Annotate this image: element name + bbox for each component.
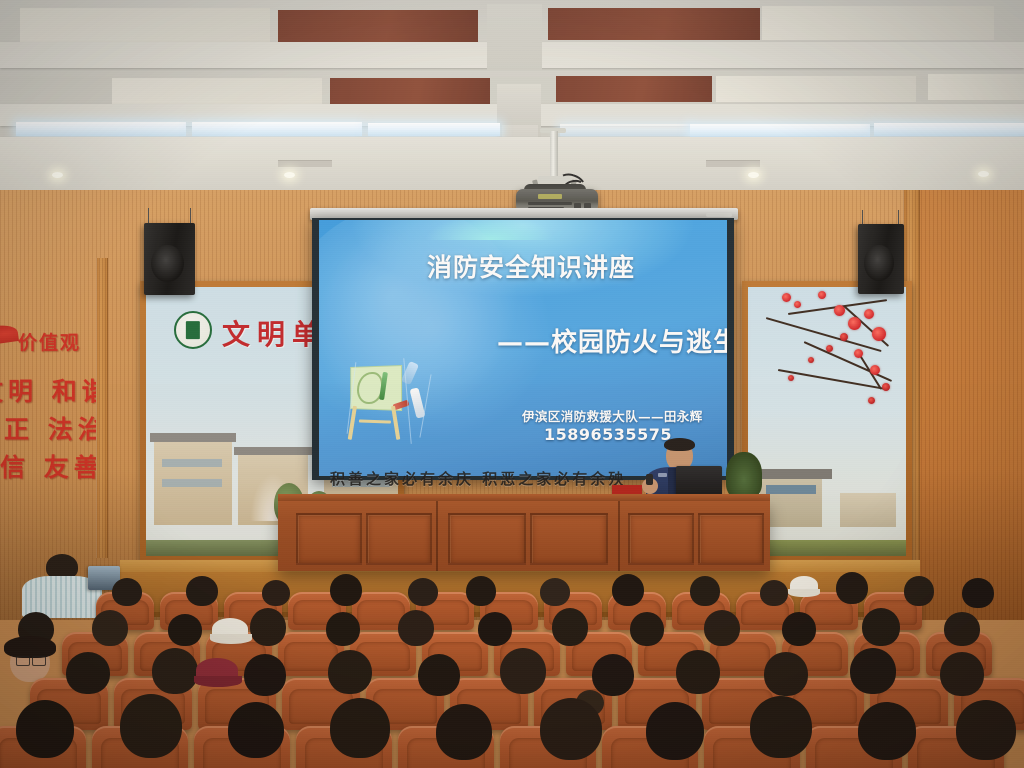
backdrop-window xyxy=(766,485,816,494)
audience-head xyxy=(962,578,994,608)
backdrop-pavilion-roof xyxy=(752,469,832,479)
ceiling-vent xyxy=(278,160,332,167)
ceiling-beam xyxy=(0,137,1024,196)
auditorium-photo: 价值观 文明 和谐 公正 法治 诚信 友善 文明单位 xyxy=(0,0,1024,768)
ceiling-downlight xyxy=(52,172,63,178)
wall-sign-line-3: 诚信 友善 xyxy=(0,448,96,484)
civilized-unit-emblem-icon xyxy=(174,311,212,349)
wall-sign-line-1: 文明 和谐 xyxy=(0,372,96,408)
slide-subtitle: ——校园防火与逃生 xyxy=(497,322,727,359)
projector-label xyxy=(538,194,562,199)
head-table-seam xyxy=(436,501,438,571)
plum-blossom xyxy=(864,309,874,319)
audience-head xyxy=(408,578,438,606)
plum-blossom xyxy=(788,375,794,381)
audience-hair xyxy=(4,636,56,658)
audience-head xyxy=(398,610,434,646)
audience-head xyxy=(92,610,128,646)
ceiling-strip-light xyxy=(368,123,500,136)
flag-flourish-icon xyxy=(0,323,19,347)
backdrop-building-roof xyxy=(234,447,312,455)
audience-glasses xyxy=(32,656,46,666)
audience-cap-brim xyxy=(210,634,252,644)
audience-head xyxy=(152,648,198,694)
ceiling-vent xyxy=(706,160,760,167)
plum-blossom xyxy=(848,317,861,330)
slide-presenter-line: 伊滨区消防救援大队——田永辉 xyxy=(522,406,703,425)
backdrop-window xyxy=(162,459,222,467)
audience-head xyxy=(328,650,372,694)
wall-sign-heading: 价值观 xyxy=(18,328,81,355)
audience-head xyxy=(760,580,788,606)
backdrop-building xyxy=(840,493,896,527)
audience-cap-brim xyxy=(788,589,820,597)
plum-blossom xyxy=(854,349,863,358)
audience-head xyxy=(540,698,602,760)
stage-banner-text: 积善之家必有余庆 积恶之家必有余殃 xyxy=(330,470,626,488)
audience-head xyxy=(764,652,808,696)
head-table-seam xyxy=(618,501,620,571)
audience-head xyxy=(956,700,1016,760)
projector-pole xyxy=(550,131,558,179)
ceiling xyxy=(0,0,1024,196)
wall-sign-left: 价值观 文明 和谐 公正 法治 诚信 友善 xyxy=(0,300,96,500)
head-table-panel xyxy=(296,513,362,565)
projection-screen[interactable]: 消防安全知识讲座 ——校园防火与逃生 伊滨区消防救援大队——田永辉 158965… xyxy=(319,220,727,476)
audience-head xyxy=(330,574,362,606)
wall-sign-line-2: 公正 法治 xyxy=(0,410,96,446)
backdrop-grass xyxy=(748,540,906,556)
audience-head xyxy=(646,702,704,760)
ceiling-acoustic-panel xyxy=(20,8,270,42)
plum-blossom xyxy=(826,345,833,352)
wall-speaker-left xyxy=(144,223,195,295)
ceiling-wood-panel xyxy=(556,76,712,102)
plum-blossom xyxy=(882,383,890,391)
stage-banner: 积善之家必有余庆 积恶之家必有余殃 xyxy=(330,468,660,494)
audience-head xyxy=(676,650,720,694)
audience-head xyxy=(478,612,512,646)
ceiling-strip-light xyxy=(690,124,870,137)
audience-head xyxy=(228,702,284,758)
plum-blossom xyxy=(782,293,791,302)
slide-title: 消防安全知识讲座 xyxy=(427,248,635,284)
audience-head xyxy=(16,700,74,758)
backdrop-building-roof xyxy=(150,433,236,442)
ceiling-acoustic-panel xyxy=(928,74,1024,100)
presenter-microphone xyxy=(646,474,653,485)
head-table-panel xyxy=(448,513,526,565)
ceiling-soffit xyxy=(487,4,542,70)
audience-head xyxy=(112,578,142,606)
plum-blossom xyxy=(818,291,826,299)
ceiling-downlight xyxy=(748,172,759,178)
audience-head xyxy=(612,574,644,606)
audience-head xyxy=(858,702,916,760)
ceiling-strip-light xyxy=(16,122,186,136)
audience-head xyxy=(330,698,390,758)
audience-head xyxy=(940,652,984,696)
ceiling-acoustic-panel xyxy=(762,6,994,40)
audience-head xyxy=(944,612,980,646)
wall-speaker-right xyxy=(858,224,904,294)
audience-head xyxy=(552,608,588,646)
plum-blossom xyxy=(808,357,814,363)
audience-head xyxy=(466,576,496,606)
head-table-panel xyxy=(628,513,694,565)
plum-blossom xyxy=(794,301,801,308)
audience-head xyxy=(782,612,816,646)
slide-clipart-easel xyxy=(343,358,439,454)
audience-head xyxy=(418,654,460,696)
audience-head xyxy=(836,572,868,604)
ceiling-strip-light xyxy=(560,124,690,136)
audience-head xyxy=(120,694,182,758)
audience-head xyxy=(690,576,720,606)
audience-head xyxy=(66,652,110,694)
presenter-shoulder-mark xyxy=(658,473,667,477)
ceiling-wood-panel xyxy=(548,8,760,40)
audience-head xyxy=(436,704,492,760)
head-table-panel xyxy=(366,513,432,565)
backdrop-right-artwork xyxy=(748,287,906,556)
audience-head xyxy=(250,608,286,646)
ceiling-wood-panel xyxy=(330,78,490,104)
ceiling-acoustic-panel xyxy=(112,78,322,104)
presenter-hair xyxy=(664,438,695,451)
stage-plant xyxy=(726,452,762,498)
clipart-easel-brace xyxy=(359,419,391,423)
audience-head xyxy=(244,654,286,696)
projector-vent xyxy=(528,202,572,205)
ceiling-downlight xyxy=(978,171,989,177)
audience-head xyxy=(592,654,634,696)
head-table-panel xyxy=(698,513,764,565)
audience-head xyxy=(168,614,202,646)
plum-blossom xyxy=(868,397,875,404)
audience-head xyxy=(540,578,570,606)
ceiling-strip-light xyxy=(192,122,362,136)
plum-blossom xyxy=(870,365,880,375)
ceiling-acoustic-panel xyxy=(716,76,916,102)
audience-head xyxy=(500,648,546,694)
audience-cap-brim xyxy=(194,676,242,687)
audience-head xyxy=(630,612,664,646)
ceiling-wood-panel xyxy=(278,10,478,42)
head-table-panel xyxy=(530,513,608,565)
ceiling-downlight xyxy=(284,172,295,178)
plum-blossom xyxy=(872,327,886,341)
audience-head xyxy=(904,576,934,606)
audience-head xyxy=(850,648,896,694)
audience-head xyxy=(704,610,740,646)
plum-blossom xyxy=(834,305,845,316)
ceiling-strip-light xyxy=(874,123,1024,136)
audience-glasses xyxy=(16,656,30,666)
audience-head xyxy=(862,608,900,646)
audience-head xyxy=(262,580,290,606)
audience-head xyxy=(326,612,360,646)
plum-blossom xyxy=(840,333,848,341)
backdrop-window xyxy=(162,479,222,487)
audience-head xyxy=(186,576,218,606)
audience-head xyxy=(750,696,812,758)
